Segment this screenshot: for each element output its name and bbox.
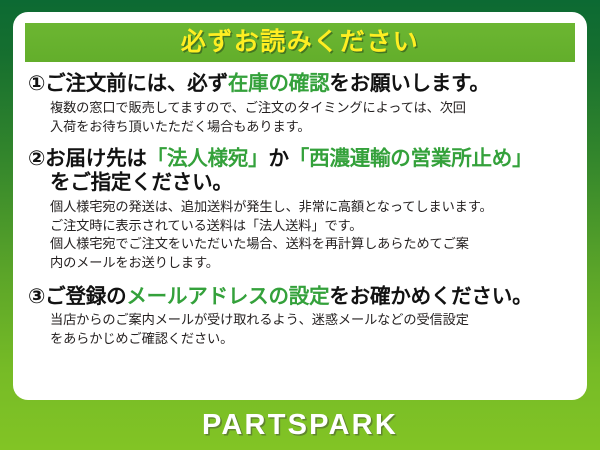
notice-item-2-detail-line-3: 個人様宅宛でご注文をいただいた場合、送料を再計算しあらためてご案 — [50, 235, 572, 254]
notice-frame: 必ずお読みください ①ご注文前には、必ず在庫の確認をお願いします。 複数の窓口で… — [0, 0, 600, 450]
notice-item-1-heading-post: をお願いします。 — [329, 72, 489, 95]
notice-card: 必ずお読みください ①ご注文前には、必ず在庫の確認をお願いします。 複数の窓口で… — [13, 12, 587, 400]
notice-item-2-detail: 個人様宅宛の発送は、追加送料が発生し、非常に高額となってしまいます。 ご注文時に… — [28, 198, 572, 273]
notice-item-3-detail-line-1: 当店からのご案内メールが受け取れるよう、迷惑メールなどの受信設定 — [50, 311, 572, 330]
page-title: 必ずお読みください — [181, 30, 420, 55]
header-banner: 必ずお読みください — [25, 23, 575, 62]
notice-item-1-detail-line-2: 入荷をお待ち頂いたただく場合もあります。 — [50, 118, 572, 137]
notice-item-2-detail-line-2: ご注文時に表示されている送料は「法人送料」です。 — [50, 217, 572, 236]
footer-brand-bar: PARTSPARK — [0, 400, 600, 450]
notice-item-3-heading: ③ご登録のメールアドレスの設定をお確かめください。 — [28, 285, 572, 309]
notice-item-1-heading: ①ご注文前には、必ず在庫の確認をお願いします。 — [28, 72, 572, 96]
notice-item-2-heading-mid: か — [268, 147, 288, 170]
brand-logo-text: PARTSPARK — [202, 411, 398, 440]
notice-item-2-heading-pre: お届け先は — [45, 147, 147, 170]
notice-item-3-detail-line-2: をあらかじめご確認ください。 — [50, 330, 572, 349]
notice-item-2-number: ② — [28, 147, 45, 170]
notice-item-1-heading-highlight: 在庫の確認 — [228, 72, 330, 95]
notice-item-2-heading: ②お届け先は「法人様宛」か「西濃運輸の営業所止め」 — [28, 147, 572, 171]
notice-item-3-detail: 当店からのご案内メールが受け取れるよう、迷惑メールなどの受信設定 をあらかじめご… — [28, 311, 572, 348]
notice-item-2-heading-highlight-2: 「西濃運輸の営業所止め」 — [289, 147, 533, 170]
notice-item-1-detail: 複数の窓口で販売してますので、ご注文のタイミングによっては、次回 入荷をお待ち頂… — [28, 99, 572, 136]
notice-item-2-heading-line2: をご指定ください。 — [28, 171, 572, 195]
notice-item-1-heading-pre: ご注文前には、必ず — [45, 72, 228, 95]
notice-item-3-heading-post: をお確かめください。 — [329, 285, 532, 308]
notice-item-3-number: ③ — [28, 285, 45, 308]
notice-item-1: ①ご注文前には、必ず在庫の確認をお願いします。 複数の窓口で販売してますので、ご… — [28, 72, 572, 136]
notice-item-3-heading-highlight: メールアドレスの設定 — [126, 285, 329, 308]
notice-item-2-detail-line-1: 個人様宅宛の発送は、追加送料が発生し、非常に高額となってしまいます。 — [50, 198, 572, 217]
notice-item-3: ③ご登録のメールアドレスの設定をお確かめください。 当店からのご案内メールが受け… — [28, 285, 572, 349]
notice-item-3-heading-pre: ご登録の — [45, 285, 126, 308]
notice-items-list: ①ご注文前には、必ず在庫の確認をお願いします。 複数の窓口で販売してますので、ご… — [25, 72, 575, 349]
notice-item-1-detail-line-1: 複数の窓口で販売してますので、ご注文のタイミングによっては、次回 — [50, 99, 572, 118]
notice-item-2-detail-line-4: 内のメールをお送りします。 — [50, 254, 572, 273]
notice-item-1-number: ① — [28, 72, 45, 95]
notice-item-2-heading-highlight: 「法人様宛」 — [147, 147, 269, 170]
notice-item-2: ②お届け先は「法人様宛」か「西濃運輸の営業所止め」 をご指定ください。 個人様宅… — [28, 147, 572, 272]
